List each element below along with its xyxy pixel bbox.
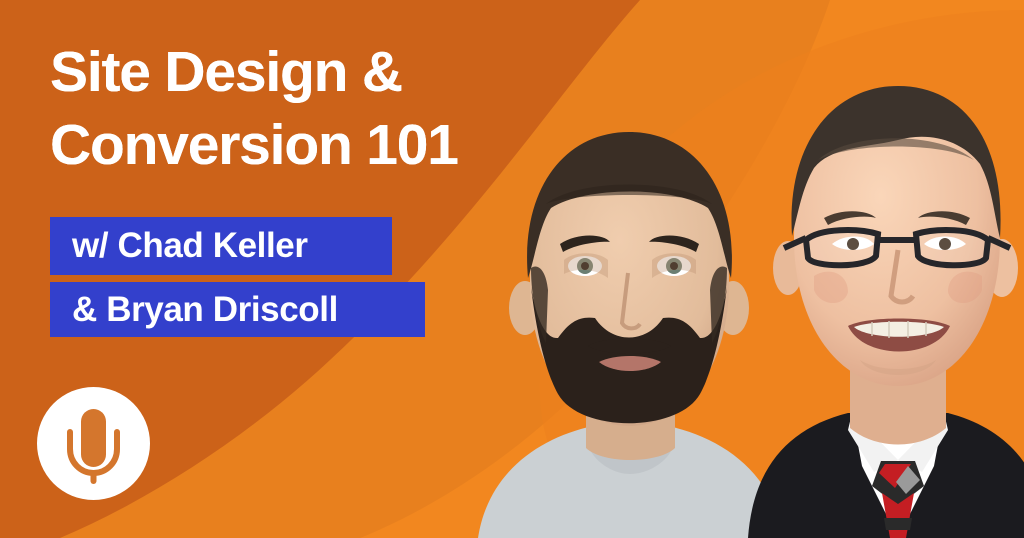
- speaker-badge-label: w/ Chad Keller: [72, 226, 308, 266]
- speaker-badge-label: & Bryan Driscoll: [72, 290, 338, 330]
- page-title: Site Design & Conversion 101: [50, 36, 670, 182]
- podcast-logo-circle: [37, 387, 150, 500]
- mic-stem: [91, 471, 97, 484]
- microphone-icon: [37, 387, 150, 500]
- speaker-badge-chad-keller: w/ Chad Keller: [50, 217, 392, 275]
- speaker-badge-bryan-driscoll: & Bryan Driscoll: [50, 282, 425, 337]
- photo-bryan-driscoll: [748, 68, 1024, 538]
- episode-cover-card: Site Design & Conversion 101 w/ Chad Kel…: [0, 0, 1024, 538]
- mic-capsule: [81, 409, 106, 467]
